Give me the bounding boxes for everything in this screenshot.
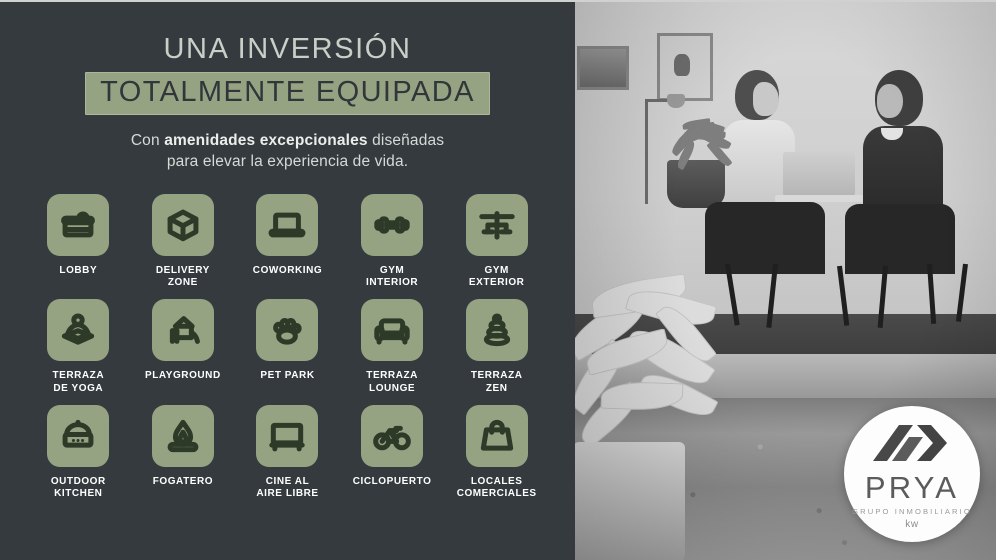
- prya-logo: PRYA GRUPO INMOBILIARIO kw: [844, 406, 980, 542]
- meditation-person-icon: [47, 299, 109, 361]
- amenity-label: CINE AL AIRE LIBRE: [256, 476, 318, 500]
- amenity-item[interactable]: COWORKING: [237, 194, 338, 289]
- amenity-item[interactable]: TERRAZA ZEN: [446, 299, 547, 394]
- subtitle-suffix: diseñadas: [368, 132, 444, 149]
- amenity-item[interactable]: GYM EXTERIOR: [446, 194, 547, 289]
- fire-pit-icon: [152, 405, 214, 467]
- amenity-label: PLAYGROUND: [145, 370, 221, 382]
- shopping-bag-icon: [466, 405, 528, 467]
- reception-desk-icon: [47, 194, 109, 256]
- amenity-item[interactable]: GYM INTERIOR: [342, 194, 443, 289]
- subtitle-emphasis: amenidades excepcionales: [164, 132, 367, 149]
- amenity-label: GYM EXTERIOR: [469, 265, 525, 289]
- amenity-item[interactable]: DELIVERY ZONE: [133, 194, 234, 289]
- amenities-grid: LOBBYDELIVERY ZONECOWORKINGGYM INTERIORG…: [18, 194, 557, 500]
- dumbbell-icon: [361, 194, 423, 256]
- amenity-label: GYM INTERIOR: [366, 265, 418, 289]
- prya-wordmark: PRYA: [865, 472, 959, 503]
- amenity-item[interactable]: LOCALES COMERCIALES: [446, 405, 547, 500]
- outdoor-screen-icon: [256, 405, 318, 467]
- amenity-item[interactable]: TERRAZA LOUNGE: [342, 299, 443, 394]
- amenity-item[interactable]: OUTDOOR KITCHEN: [28, 405, 129, 500]
- amenity-label: PET PARK: [260, 370, 314, 382]
- prya-tagline: GRUPO INMOBILIARIO: [852, 507, 972, 516]
- amenity-label: FOGATERO: [153, 476, 213, 488]
- amenity-item[interactable]: PET PARK: [237, 299, 338, 394]
- kw-affiliate-mark: kw: [905, 519, 918, 530]
- amenity-label: CICLOPUERTO: [353, 476, 432, 488]
- headline-line-1: UNA INVERSIÓN: [18, 34, 557, 64]
- headline-block: UNA INVERSIÓN TOTALMENTE EQUIPADA: [18, 34, 557, 115]
- sofa-icon: [361, 299, 423, 361]
- subtitle-prefix: Con: [131, 132, 164, 149]
- amenity-label: TERRAZA DE YOGA: [52, 370, 104, 394]
- amenity-item[interactable]: PLAYGROUND: [133, 299, 234, 394]
- amenity-label: LOBBY: [59, 265, 97, 277]
- headline-highlight-band: TOTALMENTE EQUIPADA: [85, 72, 490, 114]
- amenity-item[interactable]: FOGATERO: [133, 405, 234, 500]
- amenity-label: COWORKING: [253, 265, 322, 277]
- amenity-item[interactable]: CICLOPUERTO: [342, 405, 443, 500]
- package-box-icon: [152, 194, 214, 256]
- laptop-icon: [256, 194, 318, 256]
- paw-print-icon: [256, 299, 318, 361]
- amenity-label: TERRAZA ZEN: [471, 370, 523, 394]
- grill-icon: [47, 405, 109, 467]
- playground-slide-icon: [152, 299, 214, 361]
- amenity-label: DELIVERY ZONE: [156, 265, 210, 289]
- bicycle-icon: [361, 405, 423, 467]
- amenity-item[interactable]: CINE AL AIRE LIBRE: [237, 405, 338, 500]
- subtitle: Con amenidades excepcionales diseñadas p…: [131, 130, 444, 172]
- stacked-stones-icon: [466, 299, 528, 361]
- amenity-item[interactable]: LOBBY: [28, 194, 129, 289]
- subtitle-line-2: para elevar la experiencia de vida.: [167, 153, 408, 170]
- promo-slide: UNA INVERSIÓN TOTALMENTE EQUIPADA Con am…: [0, 0, 996, 560]
- amenity-label: LOCALES COMERCIALES: [457, 476, 537, 500]
- prya-arrow-mark-icon: [873, 423, 951, 468]
- amenity-label: OUTDOOR KITCHEN: [51, 476, 106, 500]
- calisthenics-station-icon: [466, 194, 528, 256]
- left-content-panel: UNA INVERSIÓN TOTALMENTE EQUIPADA Con am…: [0, 2, 575, 560]
- photo-panel: PRYA GRUPO INMOBILIARIO kw: [575, 2, 996, 560]
- headline-line-2: TOTALMENTE EQUIPADA: [100, 76, 475, 108]
- amenity-item[interactable]: TERRAZA DE YOGA: [28, 299, 129, 394]
- amenity-label: TERRAZA LOUNGE: [366, 370, 418, 394]
